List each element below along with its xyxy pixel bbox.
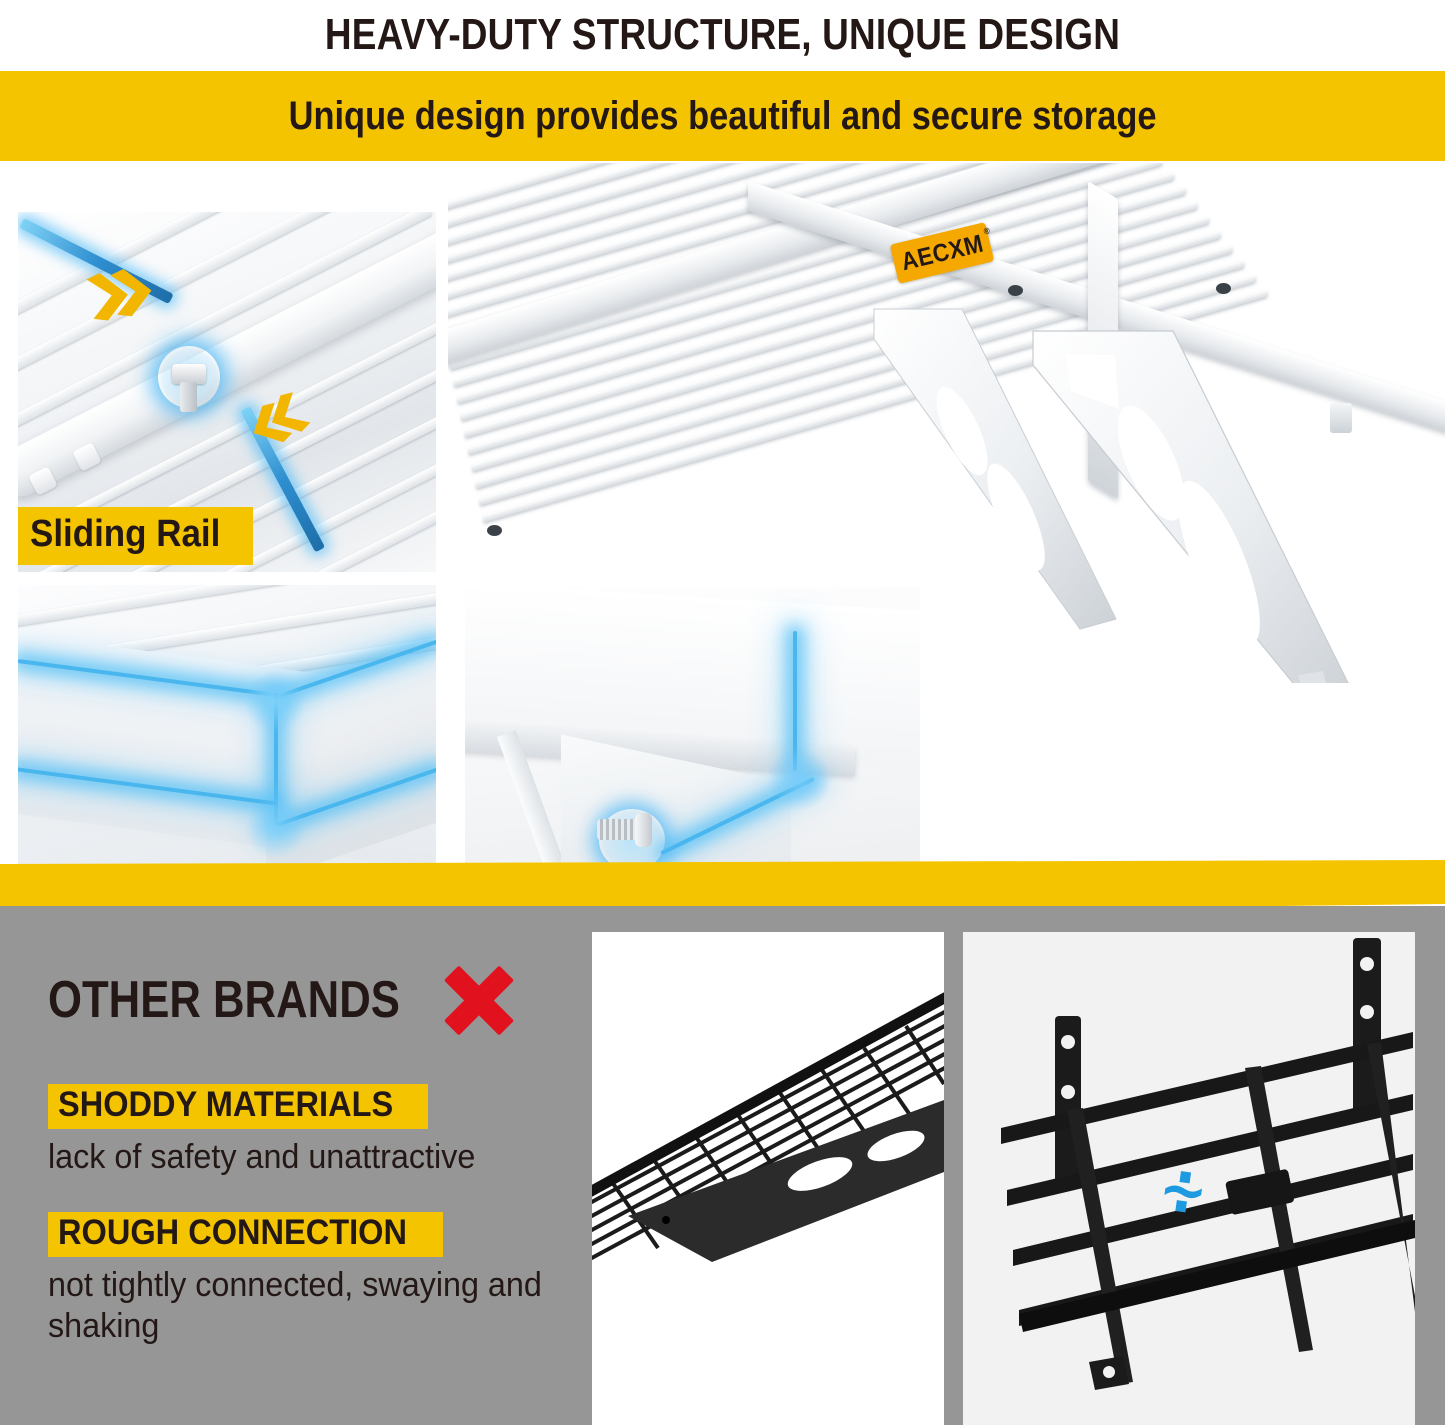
claim-2-tag: ROUGH CONNECTION	[48, 1212, 443, 1257]
claim-1-tag-text: SHODDY MATERIALS	[58, 1087, 393, 1122]
claim-2-body-text: not tightly connected, swaying and shaki…	[48, 1265, 552, 1348]
top-feature-section: AECXM	[0, 163, 1445, 896]
page-title: HEAVY-DUTY STRUCTURE, UNIQUE DESIGN	[116, 0, 1330, 70]
other-brands-heading: OTHER BRANDS	[48, 964, 515, 1036]
claim-1-body: lack of safety and unattractive	[48, 1137, 498, 1178]
bolt-seam-photo	[465, 587, 920, 883]
black-mesh-shelf-photo	[592, 932, 944, 1425]
subheadline-text: Unique design provides beautiful and sec…	[289, 94, 1157, 139]
claim-2-body: not tightly connected, swaying and shaki…	[48, 1265, 578, 1348]
other-brands-title-text: OTHER BRANDS	[48, 970, 400, 1030]
claim-1-body-text: lack of safety and unattractive	[48, 1137, 475, 1178]
glowing-corner-photo	[18, 585, 436, 882]
claim-1-tag: SHODDY MATERIALS	[48, 1084, 428, 1129]
black-frame-shelf-photo: ∻	[963, 932, 1415, 1425]
x-mark-icon	[443, 964, 515, 1036]
sway-arrow-icon: ∻	[1155, 1159, 1211, 1223]
claim-rough-connection: ROUGH CONNECTION not tightly connected, …	[48, 1212, 578, 1348]
chevron-arrow-icon	[84, 265, 156, 327]
sliding-rail-callout-label: Sliding Rail	[18, 507, 253, 565]
claim-shoddy-materials: SHODDY MATERIALS lack of safety and unat…	[48, 1084, 498, 1178]
header: HEAVY-DUTY STRUCTURE, UNIQUE DESIGN Uniq…	[0, 0, 1445, 163]
sliding-rail-callout-text: Sliding Rail	[30, 515, 220, 553]
claim-2-tag-text: ROUGH CONNECTION	[58, 1215, 407, 1250]
other-brands-section: OTHER BRANDS SHODDY MATERIALS lack of sa…	[0, 906, 1445, 1425]
subheadline-band: Unique design provides beautiful and sec…	[0, 71, 1445, 161]
